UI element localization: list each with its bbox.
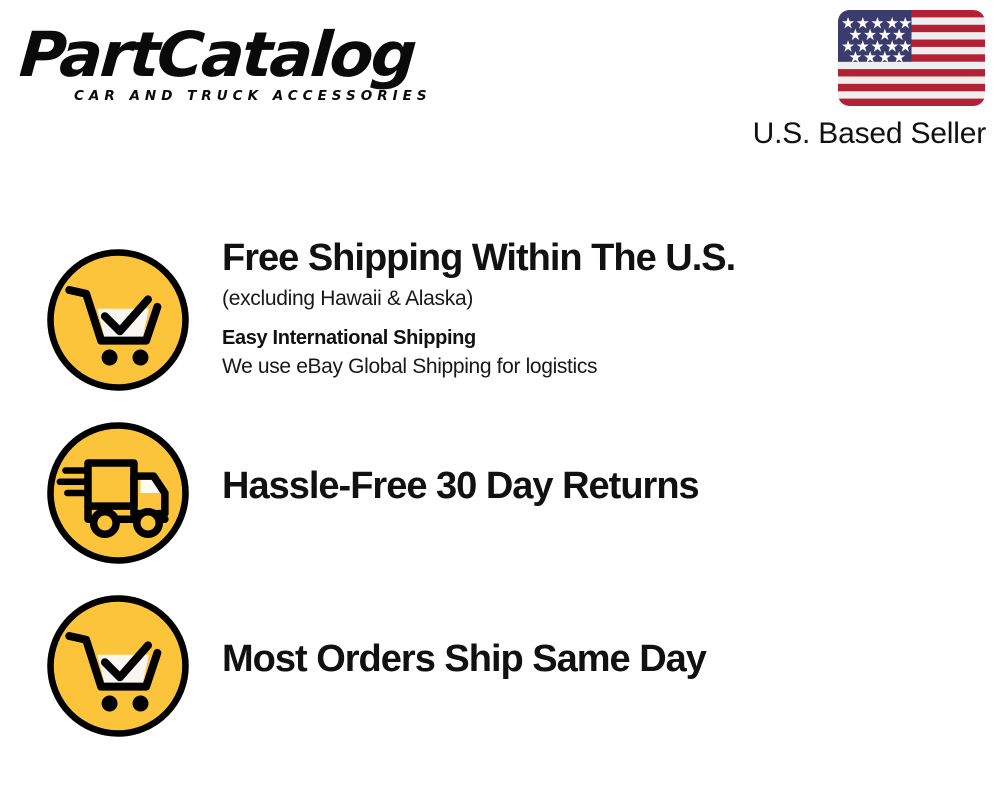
feature-list: Free Shipping Within The U.S. (excluding… [0,238,1000,757]
brand-wordmark: PartCatalog [18,24,537,86]
cart-check-badge-svg [43,245,193,395]
feature-row: Free Shipping Within The U.S. (excluding… [0,238,1000,411]
feature-secondary-title: Easy International Shipping [222,325,990,351]
feature-title: Free Shipping Within The U.S. [222,238,990,279]
shopping-cart-check-icon [43,245,193,395]
us-flag-svg [838,10,985,106]
feature-row: Hassle-Free 30 Day Returns [0,411,1000,584]
delivery-truck-icon [43,418,193,568]
cart-check-badge-svg [43,591,193,741]
feature-title: Most Orders Ship Same Day [222,639,990,680]
feature-title: Hassle-Free 30 Day Returns [222,466,990,507]
delivery-truck-badge-svg [43,418,193,568]
feature-text-block: Hassle-Free 30 Day Returns [222,466,990,507]
us-based-seller-label: U.S. Based Seller [753,117,986,151]
feature-text-block: Free Shipping Within The U.S. (excluding… [222,238,990,381]
feature-row: Most Orders Ship Same Day [0,584,1000,757]
feature-subtitle: (excluding Hawaii & Alaska) [222,285,990,313]
feature-secondary-subtitle: We use eBay Global Shipping for logistic… [222,353,990,380]
brand-logo: PartCatalog CAR AND TRUCK ACCESSORIES [22,24,522,119]
promo-banner: PartCatalog CAR AND TRUCK ACCESSORIES [0,0,1000,800]
shopping-cart-check-icon [43,591,193,741]
us-flag-icon [838,10,985,106]
feature-text-block: Most Orders Ship Same Day [222,639,990,680]
